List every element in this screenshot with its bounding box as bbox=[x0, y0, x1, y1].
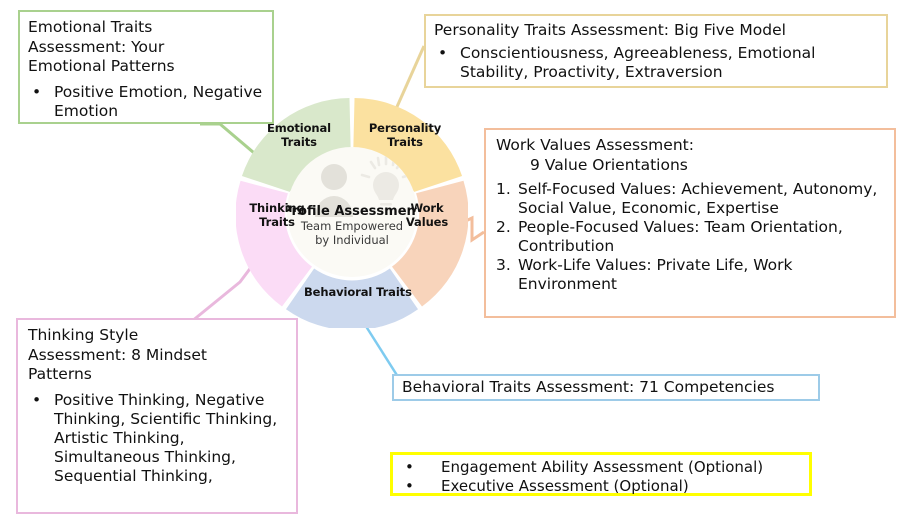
list-item-number: 1. bbox=[496, 180, 518, 199]
callout-thinking-heading-line3: Patterns bbox=[28, 365, 288, 385]
segment-label-behavioral: Behavioral Traits bbox=[304, 286, 404, 300]
hub-subtitle-line2: by Individual bbox=[301, 233, 403, 247]
list-item: 3. Work-Life Values: Private Life, Work … bbox=[496, 256, 886, 294]
bullet-marker: • bbox=[28, 391, 54, 410]
callout-optional-list: • Engagement Ability Assessment (Optiona… bbox=[401, 458, 801, 496]
callout-personality-heading: Personality Traits Assessment: Big Five … bbox=[434, 21, 878, 41]
bullet-marker: • bbox=[28, 83, 54, 102]
callout-work-list: 1. Self-Focused Values: Achievement, Aut… bbox=[496, 180, 886, 294]
list-item-text: Self-Focused Values: Achievement, Autono… bbox=[518, 180, 886, 218]
profile-assessment-donut: Profile Assessment Team Empowered by Ind… bbox=[236, 96, 468, 328]
donut-hub: Profile Assessment Team Empowered by Ind… bbox=[287, 147, 417, 277]
callout-optional-assessments: • Engagement Ability Assessment (Optiona… bbox=[390, 452, 812, 496]
list-item-text: Work-Life Values: Private Life, Work Env… bbox=[518, 256, 886, 294]
callout-personality-traits: Personality Traits Assessment: Big Five … bbox=[424, 14, 888, 88]
list-item-text: People-Focused Values: Team Orientation,… bbox=[518, 218, 886, 256]
callout-thinking-heading-line2: Assessment: 8 Mindset bbox=[28, 346, 288, 366]
callout-emotional-heading-line3: Emotional Patterns bbox=[28, 57, 264, 77]
callout-emotional-list: • Positive Emotion, Negative Emotion bbox=[28, 83, 264, 121]
list-item-text: Positive Thinking, Negative Thinking, Sc… bbox=[54, 391, 288, 486]
segment-label-personality-line2: Traits bbox=[362, 136, 448, 150]
hub-subtitle-line1: Team Empowered bbox=[301, 219, 403, 233]
list-item-text: Executive Assessment (Optional) bbox=[441, 477, 801, 496]
segment-label-personality-line1: Personality bbox=[362, 122, 448, 136]
list-item: • Engagement Ability Assessment (Optiona… bbox=[401, 458, 801, 477]
list-item: 1. Self-Focused Values: Achievement, Aut… bbox=[496, 180, 886, 218]
list-item-number: 3. bbox=[496, 256, 518, 275]
list-item: • Executive Assessment (Optional) bbox=[401, 477, 801, 496]
segment-label-emotional-line2: Traits bbox=[256, 136, 342, 150]
list-item-text: Conscientiousness, Agreeableness, Emotio… bbox=[460, 44, 878, 82]
list-item: 2. People-Focused Values: Team Orientati… bbox=[496, 218, 886, 256]
callout-work-heading: Work Values Assessment: 9 Value Orientat… bbox=[496, 136, 886, 175]
segment-label-emotional-line1: Emotional bbox=[256, 122, 342, 136]
segment-label-personality: Personality Traits bbox=[362, 122, 448, 149]
callout-behavioral-heading: Behavioral Traits Assessment: 71 Compete… bbox=[402, 378, 774, 398]
callout-thinking-list: • Positive Thinking, Negative Thinking, … bbox=[28, 391, 288, 486]
list-item: • Positive Emotion, Negative Emotion bbox=[28, 83, 264, 121]
list-item-number: 2. bbox=[496, 218, 518, 237]
segment-label-emotional: Emotional Traits bbox=[256, 122, 342, 149]
callout-work-heading-line1: Work Values Assessment: bbox=[496, 136, 886, 156]
list-item: • Conscientiousness, Agreeableness, Emot… bbox=[434, 44, 878, 82]
bullet-marker: • bbox=[401, 477, 441, 496]
callout-emotional-traits: Emotional Traits Assessment: Your Emotio… bbox=[18, 10, 274, 124]
callout-thinking-heading-line1: Thinking Style bbox=[28, 326, 288, 346]
callout-emotional-heading-line2: Assessment: Your bbox=[28, 38, 264, 58]
callout-personality-list: • Conscientiousness, Agreeableness, Emot… bbox=[434, 44, 878, 82]
callout-emotional-heading: Emotional Traits Assessment: Your Emotio… bbox=[28, 18, 264, 77]
connector-behavioral bbox=[362, 320, 400, 380]
bullet-marker: • bbox=[434, 44, 460, 63]
list-item-text: Positive Emotion, Negative Emotion bbox=[54, 83, 264, 121]
segment-label-behavioral-line1: Behavioral Traits bbox=[304, 286, 404, 300]
list-item-text: Engagement Ability Assessment (Optional) bbox=[441, 458, 801, 477]
hub-subtitle: Team Empowered by Individual bbox=[301, 219, 403, 247]
list-item: • Positive Thinking, Negative Thinking, … bbox=[28, 391, 288, 486]
callout-work-values: Work Values Assessment: 9 Value Orientat… bbox=[484, 128, 896, 318]
callout-emotional-heading-line1: Emotional Traits bbox=[28, 18, 264, 38]
hub-title: Profile Assessment bbox=[287, 204, 417, 219]
callout-thinking-heading: Thinking Style Assessment: 8 Mindset Pat… bbox=[28, 326, 288, 385]
callout-behavioral-traits: Behavioral Traits Assessment: 71 Compete… bbox=[392, 374, 820, 401]
diagram-canvas: Profile Assessment Team Empowered by Ind… bbox=[0, 0, 908, 516]
callout-work-heading-line2: 9 Value Orientations bbox=[496, 156, 886, 176]
callout-thinking-style: Thinking Style Assessment: 8 Mindset Pat… bbox=[16, 318, 298, 514]
bullet-marker: • bbox=[401, 458, 441, 477]
